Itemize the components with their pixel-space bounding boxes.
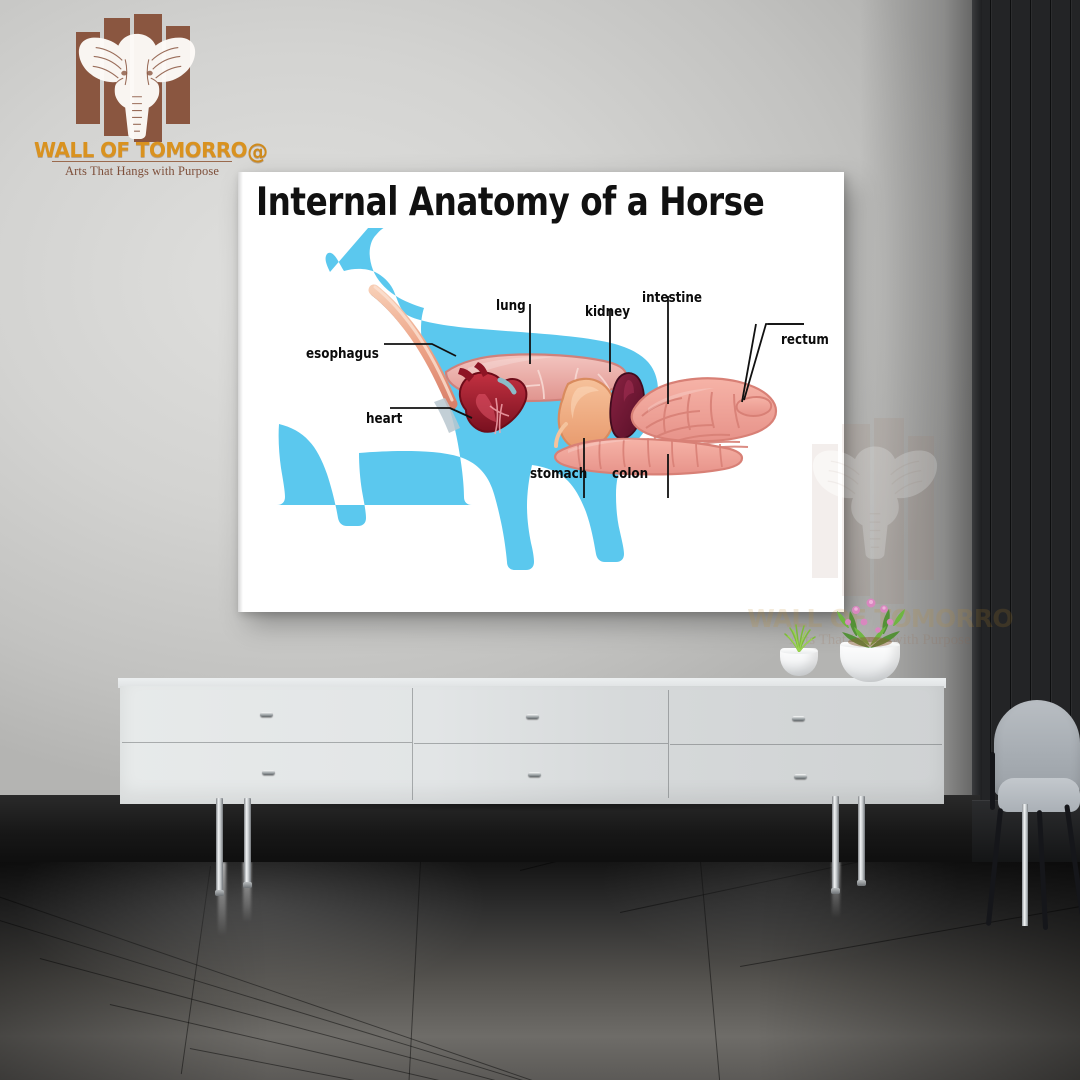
chair-leg bbox=[1037, 810, 1048, 930]
sideboard-seam bbox=[122, 742, 412, 743]
label-lung: lung bbox=[496, 298, 526, 314]
horse-anatomy-diagram bbox=[238, 228, 844, 612]
label-intestine: intestine bbox=[642, 290, 702, 306]
sideboard-console[interactable] bbox=[118, 678, 946, 806]
sideboard-leg bbox=[216, 798, 223, 892]
brand-tagline: Arts That Hangs with Purpose bbox=[34, 164, 250, 179]
chair-chrome-post bbox=[1022, 804, 1028, 926]
sideboard-leg bbox=[244, 798, 251, 884]
label-heart: heart bbox=[366, 411, 402, 427]
label-kidney: kidney bbox=[585, 304, 630, 320]
brand-divider bbox=[52, 161, 232, 162]
sideboard-seam bbox=[668, 690, 669, 798]
label-esophagus: esophagus bbox=[306, 346, 379, 362]
swirl-w-icon: @ bbox=[247, 140, 267, 164]
flowering-plant-icon bbox=[826, 592, 914, 648]
sideboard-seam bbox=[670, 744, 942, 745]
label-rectum: rectum bbox=[781, 332, 829, 348]
wall-art-poster[interactable]: Internal Anatomy of a Horse bbox=[238, 172, 844, 612]
drawer-knob[interactable] bbox=[792, 716, 805, 721]
label-colon: colon bbox=[612, 466, 648, 482]
grass-plant-icon bbox=[778, 618, 820, 652]
label-stomach: stomach bbox=[530, 466, 587, 482]
room-scene: WALL OF TOMORRO@ Arts That Hangs with Pu… bbox=[0, 0, 1080, 1080]
chair-leg bbox=[1064, 804, 1080, 916]
chair-frame bbox=[990, 752, 995, 810]
sideboard-seam bbox=[412, 688, 413, 800]
sideboard-leg bbox=[832, 796, 839, 890]
drawer-knob[interactable] bbox=[528, 772, 541, 777]
drawer-knob[interactable] bbox=[262, 770, 275, 775]
brand-logo: WALL OF TOMORRO@ Arts That Hangs with Pu… bbox=[34, 14, 250, 179]
sideboard-leg bbox=[858, 796, 865, 882]
floor-wood bbox=[0, 862, 1080, 1080]
plant-pot-small bbox=[780, 648, 818, 676]
armchair[interactable] bbox=[988, 700, 1080, 930]
drawer-knob[interactable] bbox=[526, 714, 539, 719]
drawer-knob[interactable] bbox=[794, 774, 807, 779]
drawer-knob[interactable] bbox=[260, 712, 273, 717]
chair-leg bbox=[986, 808, 1003, 926]
sideboard-seam bbox=[414, 743, 668, 744]
page-title: Internal Anatomy of a Horse bbox=[256, 180, 795, 225]
sideboard-body bbox=[120, 686, 944, 804]
elephant-head-icon bbox=[78, 24, 196, 144]
